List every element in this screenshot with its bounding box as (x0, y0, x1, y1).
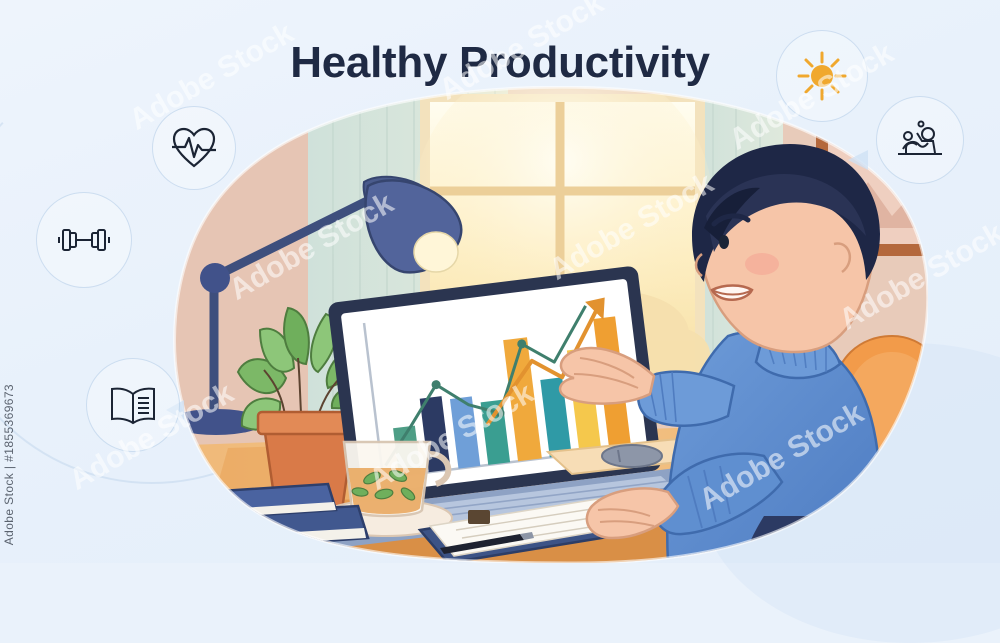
bubble-tail-right (848, 150, 868, 170)
stock-watermark-vertical: Adobe Stock | #1855369673 (2, 384, 16, 545)
page-title: Healthy Productivity (0, 38, 1000, 88)
open-book-icon[interactable] (86, 358, 180, 452)
heartbeat-icon[interactable] (152, 106, 236, 190)
relaxing-person-icon[interactable] (876, 96, 964, 184)
dumbbell-icon[interactable] (36, 192, 132, 288)
poster-canvas: Healthy Productivity (0, 0, 1000, 563)
illustration-scene (168, 86, 928, 563)
